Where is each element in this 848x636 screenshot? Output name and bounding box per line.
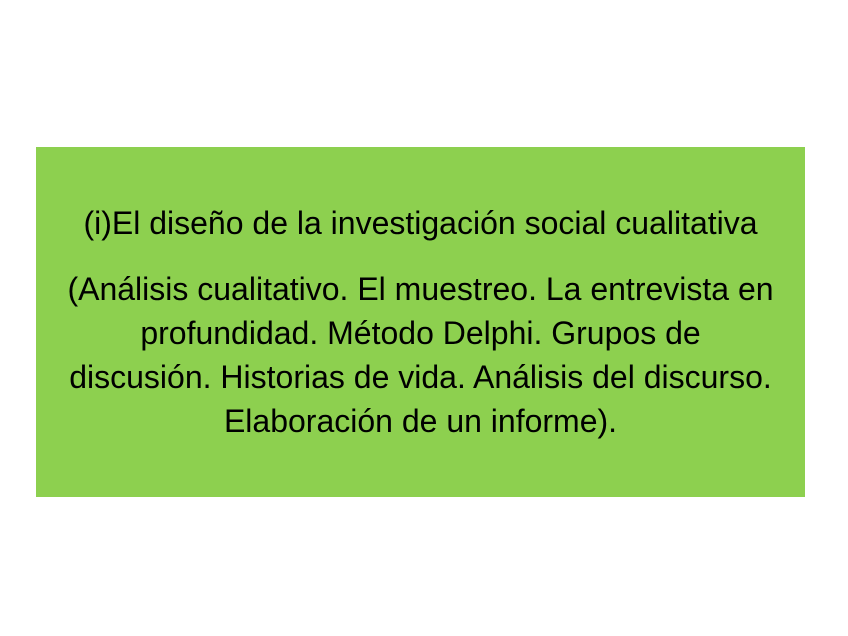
slide-title-paragraph: (i)El diseño de la investigación social … xyxy=(66,201,775,245)
green-content-box: (i)El diseño de la investigación social … xyxy=(36,147,805,497)
slide-body-paragraph: (Análisis cualitativo. El muestreo. La e… xyxy=(66,267,775,443)
slide-canvas: (i)El diseño de la investigación social … xyxy=(0,0,848,636)
